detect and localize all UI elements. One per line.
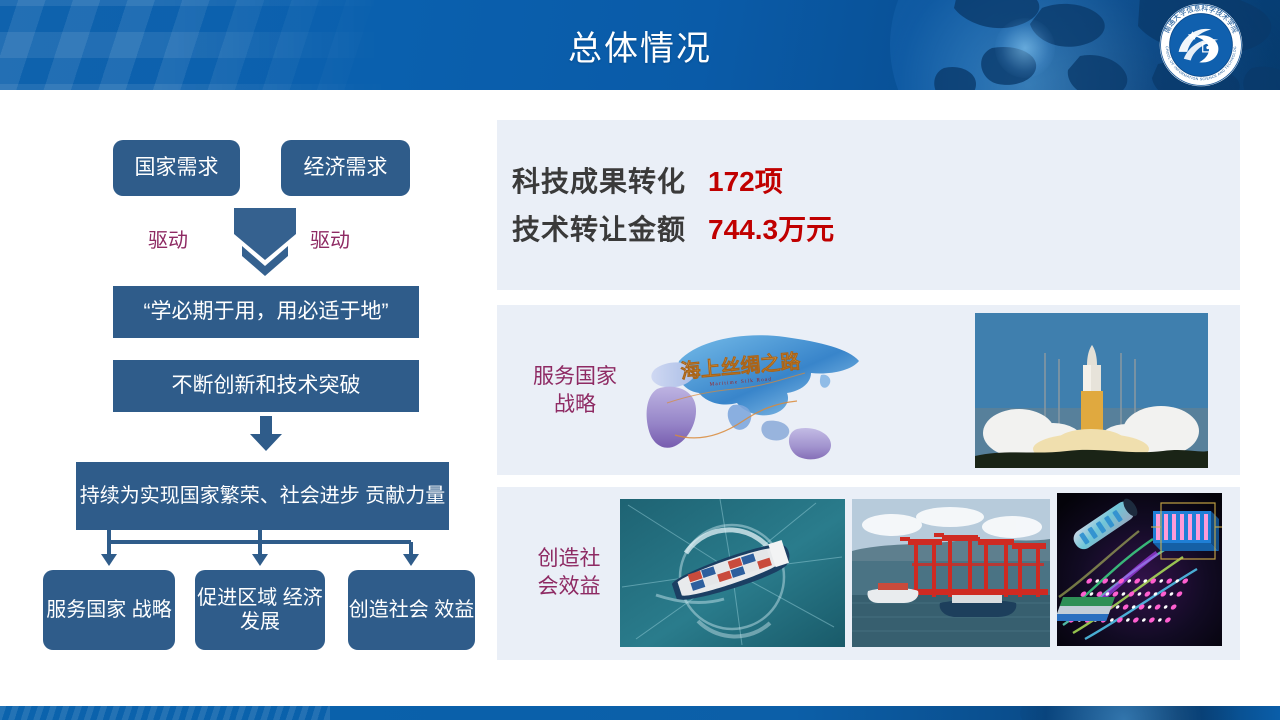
stats-panel: 科技成果转化 172项 技术转让金额 744.3万元	[497, 120, 1240, 290]
driver-label-left: 驱动	[148, 224, 188, 253]
silk-road-map-image: 海上丝绸之路 Maritime Silk Road	[615, 317, 867, 467]
national-strategy-panel: 服务国家 战略	[497, 305, 1240, 475]
page-title: 总体情况	[0, 0, 1280, 90]
stat-label-transfer-amount: 技术转让金额	[512, 208, 686, 248]
driver-label-right: 驱动	[310, 224, 350, 253]
slide-header: 南通大学信息科学技术学院 SCHOOL OF INFORMATION SCIEN…	[0, 0, 1280, 90]
stat-row-achievements: 科技成果转化 172项	[512, 160, 834, 200]
stat-value-achievements: 172项	[708, 160, 783, 200]
flow-node-contribution[interactable]: 持续为实现国家繁荣、社会进步 贡献力量	[76, 462, 449, 530]
flow-node-outcome-regional-economy[interactable]: 促进区域 经济发展	[195, 570, 325, 650]
flow-node-motto[interactable]: “学必期于用，用必适于地”	[113, 286, 419, 338]
arrow-down-icon	[249, 416, 283, 452]
stat-value-transfer-amount: 744.3万元	[708, 208, 834, 248]
double-chevron-down-icon	[228, 204, 302, 278]
social-benefit-panel: 创造社 会效益	[497, 487, 1240, 660]
stats-list: 科技成果转化 172项 技术转让金额 744.3万元	[512, 160, 834, 256]
materials-science-image	[1057, 493, 1222, 646]
strategy-flowchart: 国家需求 经济需求 驱动 驱动 “学必期于用，用必适于地” 不断创新和技术突破 …	[0, 90, 490, 706]
flow-node-economic-need[interactable]: 经济需求	[281, 140, 410, 196]
flow-node-national-need[interactable]: 国家需求	[113, 140, 240, 196]
port-cranes-image	[852, 499, 1050, 647]
rocket-launch-image	[975, 313, 1208, 468]
stat-row-transfer-amount: 技术转让金额 744.3万元	[512, 208, 834, 248]
footer-bar	[0, 706, 1280, 720]
stat-label-achievements: 科技成果转化	[512, 160, 686, 200]
branch-arrows-icon	[0, 530, 490, 572]
container-ship-image	[620, 499, 845, 647]
slide-canvas: 南通大学信息科学技术学院 SCHOOL OF INFORMATION SCIEN…	[0, 0, 1280, 720]
flow-node-outcome-social-benefit[interactable]: 创造社会 效益	[348, 570, 475, 650]
flow-node-innovation[interactable]: 不断创新和技术突破	[113, 360, 419, 412]
social-panel-caption: 创造社 会效益	[521, 545, 617, 600]
flow-node-outcome-national-strategy[interactable]: 服务国家 战略	[43, 570, 175, 650]
